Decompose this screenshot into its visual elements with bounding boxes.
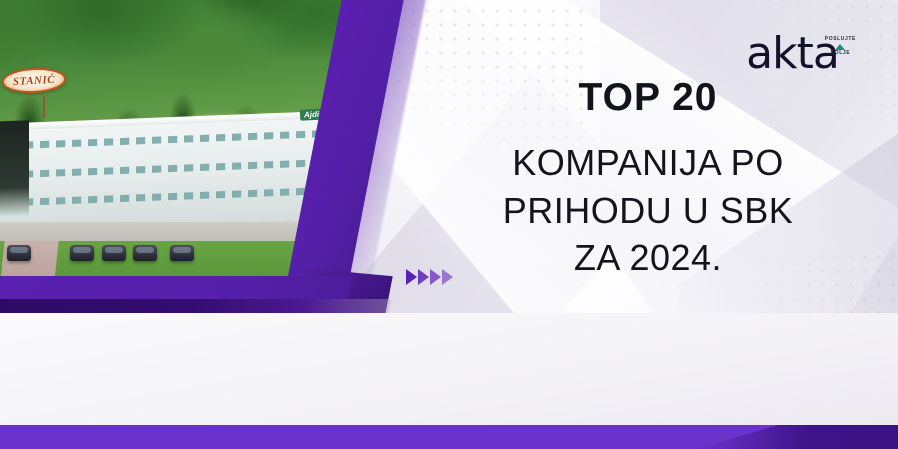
arrow-icon [406, 269, 417, 285]
headline-eyebrow: TOP 20 [448, 78, 848, 117]
akta-logo[interactable]: akta POSLUJTE BOLJE [746, 34, 856, 74]
photo-car [102, 245, 126, 261]
akta-tagline-line-1: POSLUJTE [825, 36, 856, 43]
photo-sign-post [43, 96, 45, 118]
headline-line-3: ZA 2024. [448, 234, 848, 282]
akta-tagline-line-2: BOLJE [831, 50, 851, 57]
stanic-sign-label: STANIĆ [13, 73, 56, 87]
photo-car [170, 245, 194, 261]
promo-banner: STANIĆ Ajdin TOP 20 KOMPANIJA PO [0, 0, 898, 449]
photo-car [7, 245, 31, 261]
arrow-icon [418, 269, 429, 285]
purple-band-horizontal-dark [0, 299, 391, 313]
akta-tagline: POSLUJTE BOLJE [825, 36, 856, 57]
photo-car [133, 245, 157, 261]
photo-building-entrance [0, 121, 29, 217]
headline-line-1: KOMPANIJA PO [448, 139, 848, 187]
headline-block: TOP 20 KOMPANIJA PO PRIHODU U SBK ZA 202… [448, 78, 848, 282]
arrow-icon [430, 269, 441, 285]
headline-line-2: PRIHODU U SBK [448, 187, 848, 235]
chevron-arrows-icon [406, 269, 453, 285]
photo-car [70, 245, 94, 261]
bottom-panel [0, 313, 898, 425]
